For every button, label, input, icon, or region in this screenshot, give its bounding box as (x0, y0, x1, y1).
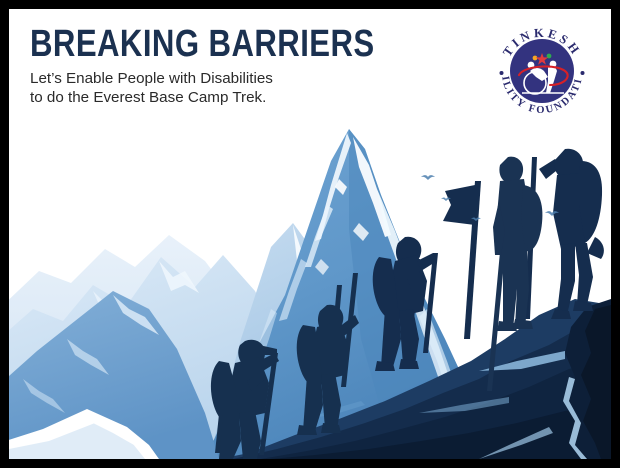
logo-dot-left (500, 71, 504, 75)
artwork-canvas: BREAKING BARRIERS Let’s Enable People wi… (9, 9, 611, 459)
logo-svg: TINKESH ABILITY FOUNDATION (490, 19, 594, 123)
logo-dot-right (581, 71, 585, 75)
tinkesh-ability-foundation-logo[interactable]: TINKESH ABILITY FOUNDATION (490, 19, 594, 123)
poster-root: BREAKING BARRIERS Let’s Enable People wi… (0, 0, 620, 468)
